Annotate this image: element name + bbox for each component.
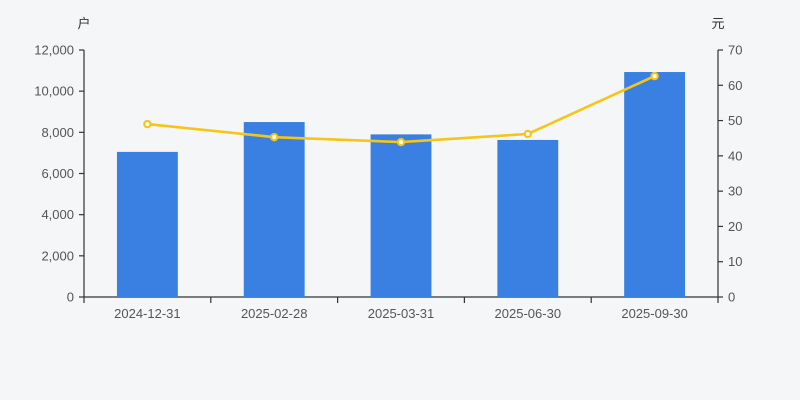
line-marker[interactable]: [525, 131, 531, 137]
left-axis-tick-label: 8,000: [41, 125, 74, 140]
left-axis-tick-label: 2,000: [41, 248, 74, 263]
x-axis-category-label: 2025-02-28: [241, 306, 308, 321]
left-axis-tick-label: 6,000: [41, 166, 74, 181]
left-axis-tick-label: 12,000: [34, 43, 74, 58]
bar[interactable]: [117, 152, 178, 297]
line-marker[interactable]: [398, 139, 404, 145]
x-axis-category-label: 2025-06-30: [495, 306, 562, 321]
right-axis-tick-label: 0: [728, 290, 735, 305]
bar[interactable]: [371, 134, 432, 297]
x-axis-category-label: 2024-12-31: [114, 306, 181, 321]
left-axis-tick-label: 4,000: [41, 207, 74, 222]
right-axis-tick-label: 20: [728, 219, 742, 234]
bar[interactable]: [497, 140, 558, 297]
right-axis-tick-label: 10: [728, 254, 742, 269]
line-marker[interactable]: [144, 121, 150, 127]
line-marker[interactable]: [652, 73, 658, 79]
chart-container: 02,0004,0006,0008,00010,00012,000 010203…: [0, 0, 800, 400]
bar[interactable]: [624, 72, 685, 297]
left-axis-tick-label: 10,000: [34, 84, 74, 99]
x-axis-category-label: 2025-03-31: [368, 306, 435, 321]
right-axis-unit-label: 元: [711, 17, 724, 32]
line-marker[interactable]: [271, 134, 277, 140]
right-axis-tick-label: 50: [728, 113, 742, 128]
left-axis-tick-label: 0: [67, 290, 74, 305]
right-axis-tick-label: 30: [728, 184, 742, 199]
combo-chart: 02,0004,0006,0008,00010,00012,000 010203…: [0, 0, 800, 400]
x-axis-category-label: 2025-09-30: [621, 306, 688, 321]
right-axis-tick-label: 40: [728, 148, 742, 163]
bar[interactable]: [244, 122, 305, 297]
right-axis-tick-label: 70: [728, 43, 742, 58]
right-axis-tick-label: 60: [728, 78, 742, 93]
left-axis-unit-label: 户: [77, 16, 90, 32]
